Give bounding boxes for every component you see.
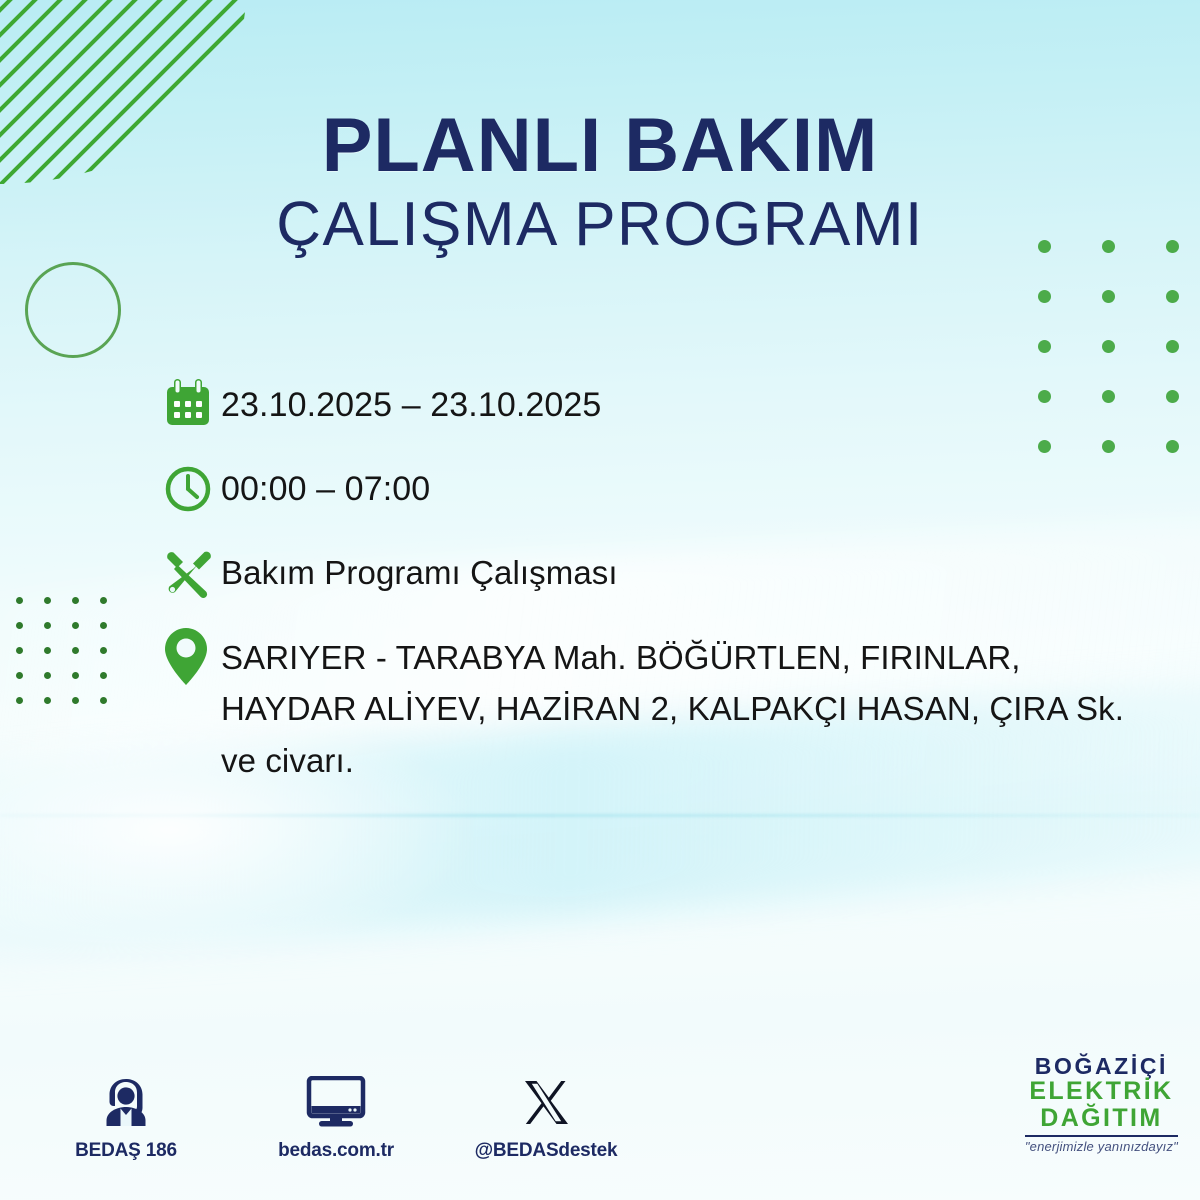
- brand-divider: [1025, 1135, 1178, 1137]
- footer-label-social: @BEDASdestek: [475, 1140, 618, 1162]
- footer-label-phone: BEDAŞ 186: [75, 1140, 177, 1162]
- footer-item-website[interactable]: bedas.com.tr: [262, 1072, 410, 1162]
- brand-line-1: BOĞAZİÇİ: [1025, 1054, 1178, 1078]
- info-list: 23.10.2025 – 23.10.2025 00:00 – 07:00: [163, 376, 1173, 786]
- location-pin-icon: [163, 628, 221, 686]
- brand-logo: BOĞAZİÇİ ELEKTRİK DAĞITIM "enerjimizle y…: [1025, 1054, 1178, 1154]
- poster-footer: BEDAŞ 186 bedas.com.tr: [0, 1042, 1200, 1172]
- footer-item-social[interactable]: @BEDASdestek: [472, 1072, 620, 1162]
- footer-label-website: bedas.com.tr: [278, 1140, 394, 1162]
- brand-tagline: "enerjimizle yanınızdayız": [1025, 1140, 1178, 1154]
- tools-icon: [163, 544, 221, 602]
- dot-grid-left: [16, 597, 128, 722]
- clock-icon: [163, 460, 221, 518]
- background-horizon-band: [0, 814, 1200, 817]
- info-row-work-type: Bakım Programı Çalışması: [163, 544, 1173, 602]
- info-row-time: 00:00 – 07:00: [163, 460, 1173, 518]
- info-row-date: 23.10.2025 – 23.10.2025: [163, 376, 1173, 434]
- monitor-icon: [306, 1072, 366, 1128]
- date-range-text: 23.10.2025 – 23.10.2025: [221, 376, 601, 432]
- time-range-text: 00:00 – 07:00: [221, 460, 430, 516]
- support-agent-icon: [98, 1072, 154, 1128]
- footer-contact-list: BEDAŞ 186 bedas.com.tr: [52, 1072, 620, 1162]
- decorative-circle: [25, 262, 121, 358]
- page-title: PLANLI BAKIM: [0, 108, 1200, 184]
- info-row-address: SARIYER - TARABYA Mah. BÖĞÜRTLEN, FIRINL…: [163, 628, 1173, 786]
- work-type-text: Bakım Programı Çalışması: [221, 544, 618, 598]
- brand-line-3: DAĞITIM: [1025, 1105, 1178, 1132]
- poster-header: PLANLI BAKIM ÇALIŞMA PROGRAMI: [0, 108, 1200, 256]
- brand-line-2: ELEKTRİK: [1025, 1078, 1178, 1105]
- x-social-icon: [521, 1072, 571, 1128]
- address-text: SARIYER - TARABYA Mah. BÖĞÜRTLEN, FIRINL…: [221, 628, 1156, 786]
- page-subtitle: ÇALIŞMA PROGRAMI: [0, 194, 1200, 256]
- footer-item-phone[interactable]: BEDAŞ 186: [52, 1072, 200, 1162]
- poster-canvas: PLANLI BAKIM ÇALIŞMA PROGRAMI: [0, 0, 1200, 1200]
- calendar-icon: [163, 376, 221, 434]
